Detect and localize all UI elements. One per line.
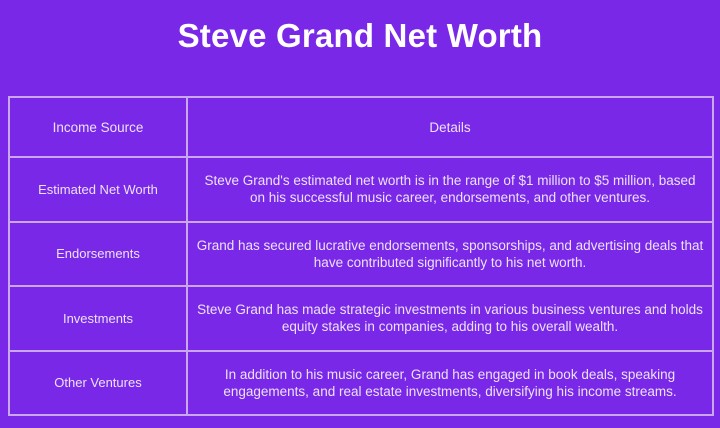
net-worth-table-container: Income Source Details Estimated Net Wort… [8,96,712,416]
cell-income-source: Estimated Net Worth [9,157,187,222]
column-header-income-source: Income Source [9,97,187,157]
table-row: Investments Steve Grand has made strateg… [9,286,713,351]
cell-details: Steve Grand's estimated net worth is in … [187,157,713,222]
table-row: Other Ventures In addition to his music … [9,351,713,416]
cell-details: In addition to his music career, Grand h… [187,351,713,416]
cell-details: Grand has secured lucrative endorsements… [187,222,713,287]
net-worth-table: Income Source Details Estimated Net Wort… [8,96,714,416]
page-title: Steve Grand Net Worth [0,16,720,56]
table-row: Estimated Net Worth Steve Grand's estima… [9,157,713,222]
table-body: Estimated Net Worth Steve Grand's estima… [9,157,713,415]
table-row: Endorsements Grand has secured lucrative… [9,222,713,287]
cell-income-source: Other Ventures [9,351,187,416]
column-header-details: Details [187,97,713,157]
net-worth-infographic: Steve Grand Net Worth Income Source Deta… [0,0,720,428]
cell-income-source: Endorsements [9,222,187,287]
table-header: Income Source Details [9,97,713,157]
cell-income-source: Investments [9,286,187,351]
table-header-row: Income Source Details [9,97,713,157]
cell-details: Steve Grand has made strategic investmen… [187,286,713,351]
